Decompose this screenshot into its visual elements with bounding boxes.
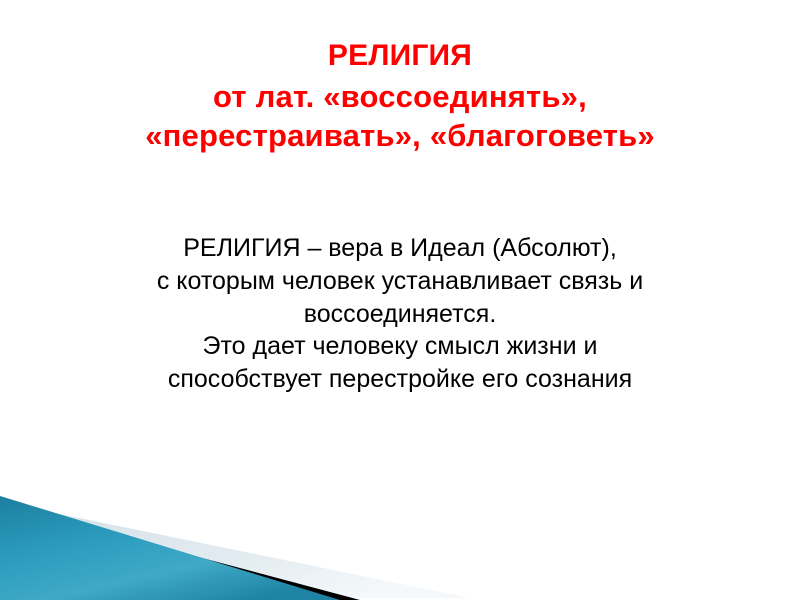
corner-banner-decoration bbox=[0, 480, 800, 600]
body-line-1: РЕЛИГИЯ – вера в Идеал (Абсолют), bbox=[40, 232, 760, 265]
title-line-2: от лат. «воссоединять», bbox=[40, 79, 760, 116]
title-line-3: «перестраивать», «благоговеть» bbox=[40, 118, 760, 155]
slide-canvas: РЕЛИГИЯ от лат. «воссоединять», «перестр… bbox=[0, 0, 800, 600]
title-line-1: РЕЛИГИЯ bbox=[40, 38, 760, 73]
teal-triangle-shape bbox=[0, 496, 340, 600]
slide-title: РЕЛИГИЯ от лат. «воссоединять», «перестр… bbox=[40, 38, 760, 155]
black-wedge-shape bbox=[38, 518, 360, 600]
decoration-svg bbox=[0, 480, 800, 600]
pale-wedge-shape bbox=[0, 510, 470, 598]
body-line-4: Это дает человеку смысл жизни и bbox=[40, 330, 760, 363]
body-line-5: способствует перестройке его сознания bbox=[40, 363, 760, 396]
slide-body: РЕЛИГИЯ – вера в Идеал (Абсолют), с кото… bbox=[40, 232, 760, 396]
body-line-3: воссоединяется. bbox=[40, 298, 760, 331]
body-line-2: с которым человек устанавливает связь и bbox=[40, 265, 760, 298]
